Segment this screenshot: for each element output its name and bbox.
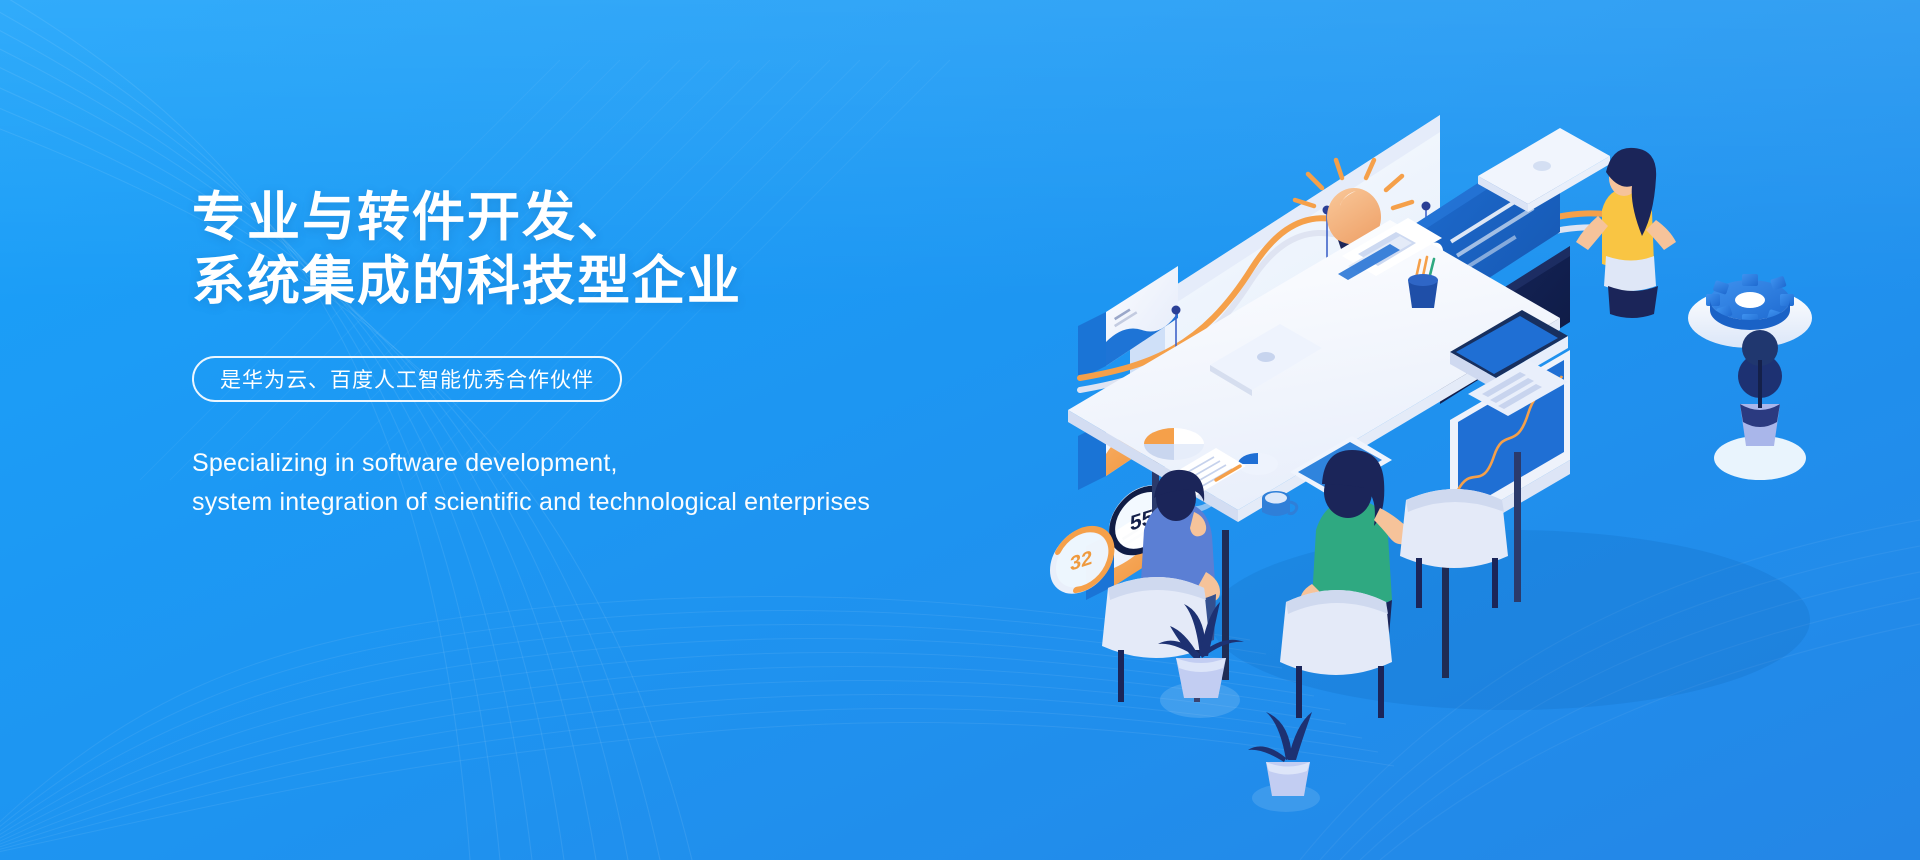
headline-line-2: 系统集成的科技型企业 [192, 250, 952, 314]
headline-line-1: 专业与转件开发、 [192, 186, 952, 250]
hero-copy: 专业与转件开发、 系统集成的科技型企业 是华为云、百度人工智能优秀合作伙伴 Sp… [192, 186, 952, 522]
pie-chart-small [1238, 453, 1278, 475]
page-title: 专业与转件开发、 系统集成的科技型企业 [192, 186, 952, 314]
topiary-tree [1714, 330, 1806, 480]
hero-subtitle: Specializing in software development, sy… [192, 444, 952, 522]
subtitle-line-2: system integration of scientific and tec… [192, 483, 952, 522]
hero-illustration: 65 123 97 81 [1090, 60, 1920, 800]
coffee-mug [1262, 491, 1297, 516]
subtitle-line-1: Specializing in software development, [192, 444, 952, 483]
pie-chart [1144, 428, 1204, 460]
partner-badge: 是华为云、百度人工智能优秀合作伙伴 [192, 356, 622, 402]
potted-plant-2 [1248, 712, 1320, 812]
hero-banner: 专业与转件开发、 系统集成的科技型企业 是华为云、百度人工智能优秀合作伙伴 Sp… [0, 0, 1920, 860]
